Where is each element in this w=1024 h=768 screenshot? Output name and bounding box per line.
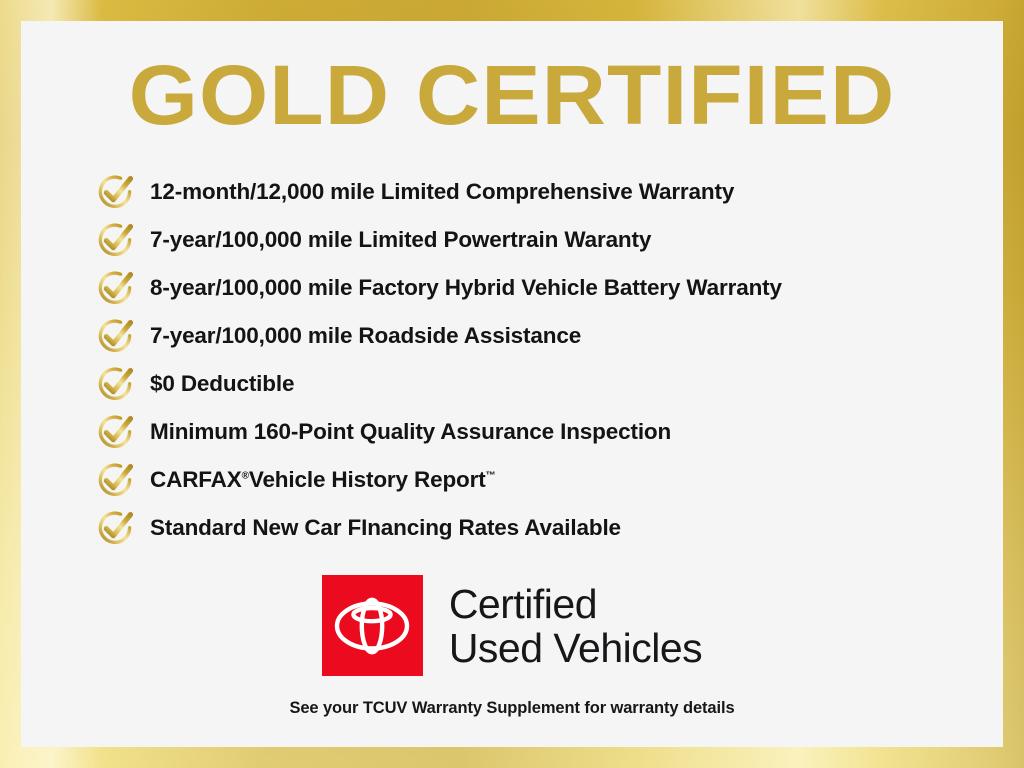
trademark-mark: ™ bbox=[486, 471, 496, 482]
carfax-report-label: Vehicle History Report bbox=[249, 467, 486, 492]
benefit-label: 7-year/100,000 mile Roadside Assistance bbox=[150, 323, 581, 349]
benefit-label: $0 Deductible bbox=[150, 371, 294, 397]
gold-certified-certificate: GOLD CERTIFIED 12-month/12,000 mile Li bbox=[0, 0, 1024, 768]
gold-check-circle-icon bbox=[94, 364, 138, 404]
list-item: 12-month/12,000 mile Limited Comprehensi… bbox=[94, 168, 994, 216]
gold-check-circle-icon bbox=[94, 268, 138, 308]
benefit-label: 8-year/100,000 mile Factory Hybrid Vehic… bbox=[150, 275, 782, 301]
gold-check-circle-icon bbox=[94, 220, 138, 260]
gold-check-circle-icon bbox=[94, 316, 138, 356]
gold-check-circle-icon bbox=[94, 460, 138, 500]
list-item: 8-year/100,000 mile Factory Hybrid Vehic… bbox=[94, 264, 994, 312]
gold-check-circle-icon bbox=[94, 172, 138, 212]
benefits-list: 12-month/12,000 mile Limited Comprehensi… bbox=[94, 168, 994, 552]
carfax-wordmark: CARFAX bbox=[150, 467, 242, 492]
benefit-label: Standard New Car FInancing Rates Availab… bbox=[150, 515, 621, 541]
toyota-logo-tile bbox=[322, 575, 423, 676]
list-item: CARFAX®Vehicle History Report™ bbox=[94, 456, 994, 504]
list-item: 7-year/100,000 mile Limited Powertrain W… bbox=[94, 216, 994, 264]
list-item: 7-year/100,000 mile Roadside Assistance bbox=[94, 312, 994, 360]
list-item: Standard New Car FInancing Rates Availab… bbox=[94, 504, 994, 552]
tcuv-wordmark: Certified Used Vehicles bbox=[449, 582, 702, 670]
gold-check-circle-icon bbox=[94, 508, 138, 548]
registered-mark: ® bbox=[242, 471, 249, 482]
benefit-label: Minimum 160-Point Quality Assurance Insp… bbox=[150, 419, 671, 445]
tcuv-line-2: Used Vehicles bbox=[449, 626, 702, 670]
page-title: GOLD CERTIFIED bbox=[21, 47, 1003, 143]
benefit-label-carfax: CARFAX®Vehicle History Report™ bbox=[150, 467, 495, 493]
benefit-label: 7-year/100,000 mile Limited Powertrain W… bbox=[150, 227, 651, 253]
warranty-disclaimer: See your TCUV Warranty Supplement for wa… bbox=[21, 699, 1003, 718]
toyota-emblem-icon bbox=[333, 597, 411, 655]
benefit-label: 12-month/12,000 mile Limited Comprehensi… bbox=[150, 179, 734, 205]
tcuv-line-1: Certified bbox=[449, 582, 702, 626]
list-item: Minimum 160-Point Quality Assurance Insp… bbox=[94, 408, 994, 456]
toyota-certified-used-vehicles-logo: Certified Used Vehicles bbox=[21, 575, 1003, 676]
certificate-card: GOLD CERTIFIED 12-month/12,000 mile Li bbox=[21, 21, 1003, 747]
list-item: $0 Deductible bbox=[94, 360, 994, 408]
gold-check-circle-icon bbox=[94, 412, 138, 452]
